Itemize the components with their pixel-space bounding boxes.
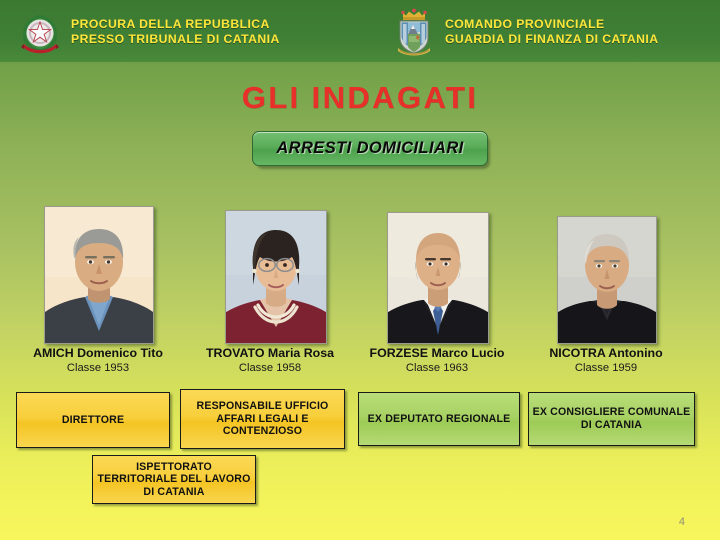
header-left-group: PROCURA DELLA REPUBBLICA PRESSO TRIBUNAL… [18, 9, 280, 55]
badge-label: ARRESTI DOMICILIARI [276, 139, 463, 158]
role-box-3: EX DEPUTATO REGIONALE [358, 392, 520, 446]
suspect-photo-2 [225, 210, 327, 344]
suspect-name-4: NICOTRA Antonino [506, 346, 706, 360]
header-right-line2: GUARDIA DI FINANZA DI CATANIA [445, 32, 658, 48]
role-label-1: DIRETTORE [59, 414, 127, 427]
role-label-4: EX CONSIGLIERE COMUNALE DI CATANIA [529, 406, 694, 431]
role-box-2: RESPONSABILE UFFICIO AFFARI LEGALI E CON… [180, 389, 345, 449]
slide-title: GLI INDAGATI [0, 80, 720, 116]
suspect-photo-1 [44, 206, 154, 344]
suspect-class-4: Classe 1959 [506, 362, 706, 374]
suspect-photo-3 [387, 212, 489, 344]
arresti-domiciliari-badge: ARRESTI DOMICILIARI [252, 131, 486, 166]
role-box-secondary: ISPETTORATO TERRITORIALE DEL LAVORO DI C… [92, 455, 256, 504]
role-box-4: EX CONSIGLIERE COMUNALE DI CATANIA [528, 392, 695, 446]
suspect-class-1: Classe 1953 [0, 362, 196, 374]
header-left-text: PROCURA DELLA REPUBBLICA PRESSO TRIBUNAL… [71, 17, 280, 48]
suspect-name-1: AMICH Domenico Tito [0, 346, 196, 360]
suspect-photo-4 [557, 216, 657, 344]
header-right-group: COMANDO PROVINCIALE GUARDIA DI FINANZA D… [392, 6, 658, 58]
role-label-2: RESPONSABILE UFFICIO AFFARI LEGALI E CON… [181, 400, 344, 438]
header-right-text: COMANDO PROVINCIALE GUARDIA DI FINANZA D… [445, 17, 658, 48]
header-left-line2: PRESSO TRIBUNALE DI CATANIA [71, 32, 280, 48]
italian-republic-emblem-icon [18, 9, 62, 55]
badge-body: ARRESTI DOMICILIARI [252, 131, 488, 166]
presentation-slide: PROCURA DELLA REPUBBLICA PRESSO TRIBUNAL… [0, 0, 720, 540]
role-label-secondary: ISPETTORATO TERRITORIALE DEL LAVORO DI C… [93, 461, 255, 499]
header-left-line1: PROCURA DELLA REPUBBLICA [71, 17, 280, 33]
role-box-1: DIRETTORE [16, 392, 170, 448]
role-label-3: EX DEPUTATO REGIONALE [365, 413, 514, 426]
header-right-line1: COMANDO PROVINCIALE [445, 17, 658, 33]
page-number: 4 [679, 516, 685, 528]
guardia-di-finanza-crest-icon [392, 6, 436, 58]
